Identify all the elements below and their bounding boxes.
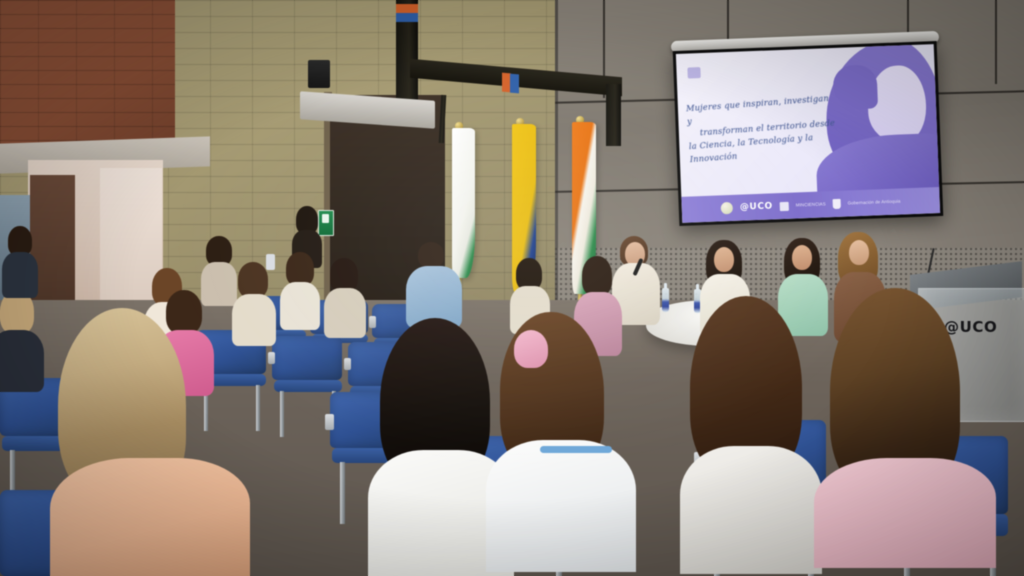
collar-stripe: [540, 446, 612, 453]
slide-headline: Mujeres que inspiran, investigan y trans…: [686, 91, 840, 165]
torso: [814, 458, 996, 568]
torso: [201, 262, 237, 306]
hair-bow: [514, 330, 548, 368]
hair: [418, 242, 444, 268]
smartphone: [266, 254, 275, 270]
torso: [280, 282, 320, 330]
flag-institucional: [452, 128, 475, 278]
slide-logo-mark-icon: [687, 67, 700, 78]
hair: [286, 252, 314, 286]
wall-speaker: [308, 60, 330, 88]
duct-marker-blue-2: [510, 74, 519, 94]
head: [792, 245, 812, 270]
uco-logo-text: @UCO: [740, 201, 773, 212]
torso: [324, 288, 366, 338]
duct-marker-orange: [396, 4, 418, 13]
presentation-slide: Mujeres que inspiran, investigan y trans…: [676, 44, 940, 223]
torso: [2, 252, 38, 298]
torso: [0, 330, 44, 392]
hair: [330, 258, 358, 292]
seal-logo-icon: [721, 202, 733, 214]
duct-marker-blue: [396, 13, 418, 22]
minciencias-logo-icon: [780, 201, 789, 210]
minciencias-logo-text: MINCIENCIAS: [796, 202, 826, 209]
exit-sign-icon: [318, 210, 334, 236]
water-bottle: [662, 288, 669, 312]
hair: [582, 256, 612, 296]
gobernacion-logo-text: Gobernación de Antioquia: [848, 199, 901, 207]
red-brick-wall: [0, 0, 175, 152]
torso: [232, 294, 276, 346]
hair: [166, 290, 202, 334]
head: [714, 247, 734, 272]
gobernacion-shield-icon: [832, 199, 840, 209]
conference-photo: Mujeres que inspiran, investigan y trans…: [0, 0, 1024, 576]
torso: [486, 440, 636, 572]
head: [849, 240, 869, 265]
podium-uco-logo: @UCO: [944, 318, 997, 336]
torso: [680, 446, 822, 574]
projection-screen: Mujeres que inspiran, investigan y trans…: [673, 41, 944, 226]
hair: [238, 262, 268, 298]
vertical-duct-right: [606, 84, 621, 146]
torso: [50, 458, 250, 576]
